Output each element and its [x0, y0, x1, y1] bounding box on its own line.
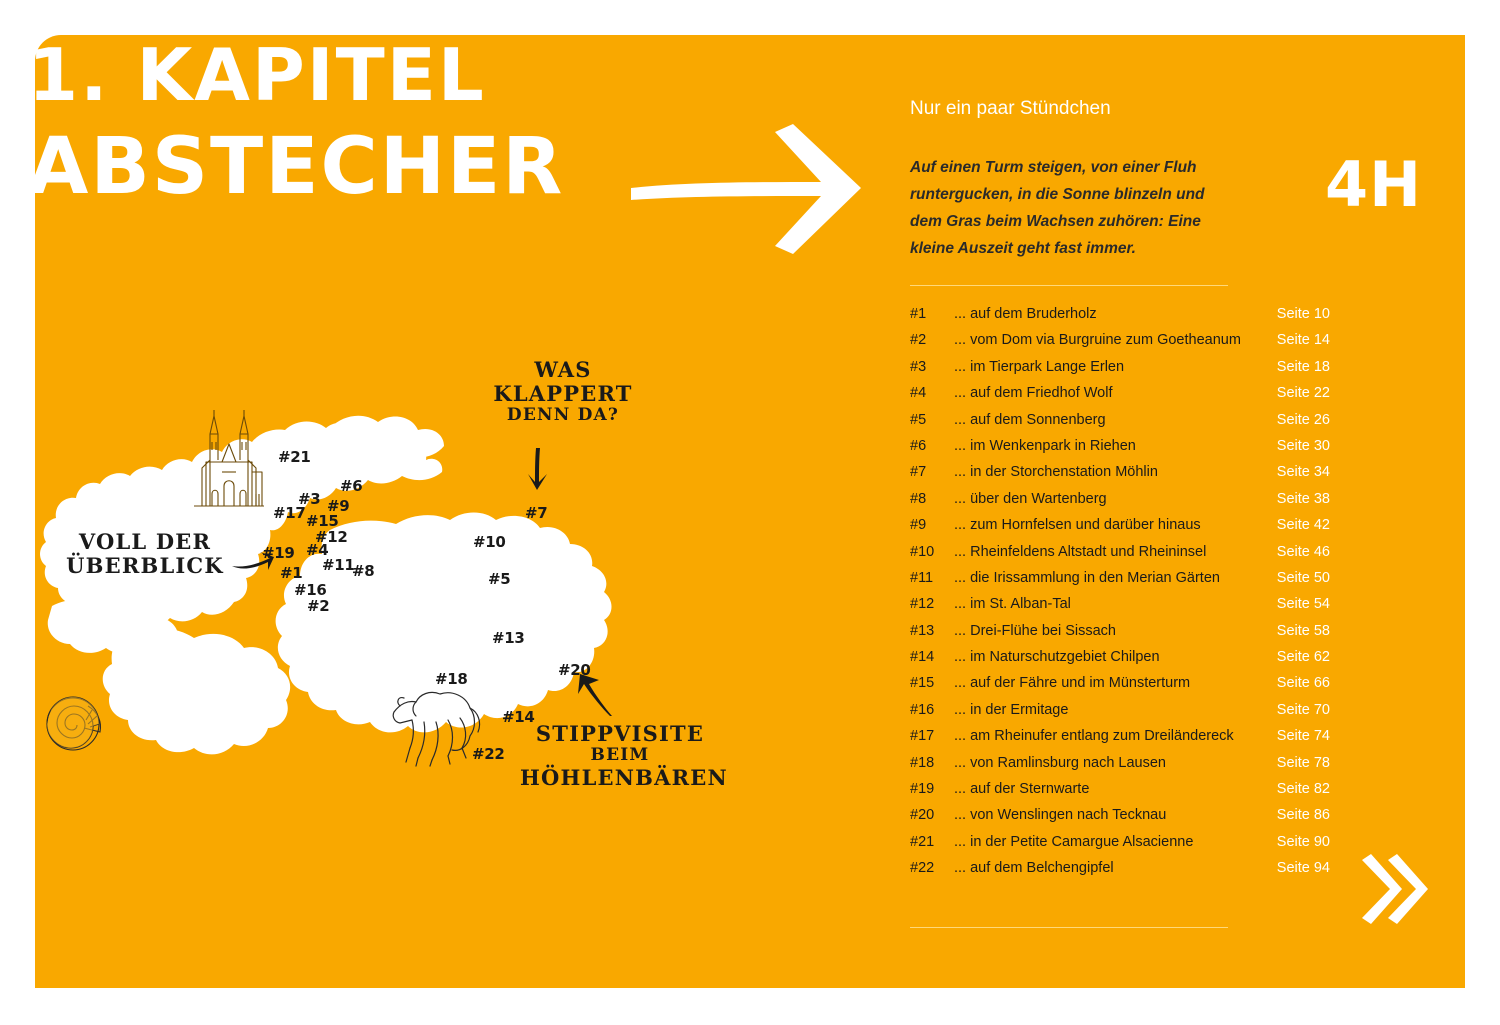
annotation-overview-line2: ÜBERBLICK	[60, 554, 230, 578]
annotation-stork-line2: KLAPPERT	[468, 382, 658, 406]
toc-title: ... über den Wartenberg	[954, 491, 1277, 507]
toc-page-number: Seite 46	[1277, 544, 1330, 560]
toc-title: ... Drei-Flühe bei Sissach	[954, 623, 1277, 639]
toc-title: ... auf der Sternwarte	[954, 781, 1277, 797]
arrow-right-icon	[625, 120, 865, 260]
toc-row[interactable]: #13... Drei-Flühe bei SissachSeite 58	[910, 623, 1330, 649]
toc-page-number: Seite 38	[1277, 491, 1330, 507]
toc-number: #9	[910, 517, 954, 533]
toc-row[interactable]: #10... Rheinfeldens Altstadt und Rheinin…	[910, 544, 1330, 570]
toc-number: #5	[910, 412, 954, 428]
annotation-stork-line3: DENN DA?	[468, 406, 658, 426]
page-title: 1. KAPITEL ABSTECHER	[28, 40, 588, 205]
toc-row[interactable]: #18... von Ramlinsburg nach LausenSeite …	[910, 755, 1330, 781]
map-marker[interactable]: #20	[558, 661, 591, 679]
toc-row[interactable]: #2... vom Dom via Burgruine zum Goethean…	[910, 332, 1330, 358]
toc-title: ... vom Dom via Burgruine zum Goetheanum	[954, 332, 1277, 348]
toc-row[interactable]: #3... im Tierpark Lange ErlenSeite 18	[910, 359, 1330, 385]
toc-number: #19	[910, 781, 954, 797]
map-marker[interactable]: #13	[492, 629, 525, 647]
toc-page-number: Seite 50	[1277, 570, 1330, 586]
divider-bottom	[910, 927, 1228, 928]
toc-page-number: Seite 86	[1277, 807, 1330, 823]
toc-row[interactable]: #8... über den WartenbergSeite 38	[910, 491, 1330, 517]
toc-page-number: Seite 10	[1277, 306, 1330, 322]
annotation-bear-line2: BEIM	[520, 746, 720, 766]
toc-number: #10	[910, 544, 954, 560]
toc-title: ... im Naturschutzgebiet Chilpen	[954, 649, 1277, 665]
toc-row[interactable]: #4... auf dem Friedhof WolfSeite 22	[910, 385, 1330, 411]
toc-title: ... von Ramlinsburg nach Lausen	[954, 755, 1277, 771]
toc-title: ... auf der Fähre und im Münsterturm	[954, 675, 1277, 691]
intro-kicker: Nur ein paar Stündchen	[910, 98, 1340, 120]
ammonite-fossil-illustration	[40, 688, 110, 758]
toc-title: ... auf dem Friedhof Wolf	[954, 385, 1277, 401]
toc-title: ... in der Petite Camargue Alsacienne	[954, 834, 1277, 850]
map-marker[interactable]: #1	[280, 564, 302, 582]
toc-page-number: Seite 90	[1277, 834, 1330, 850]
toc-row[interactable]: #22... auf dem BelchengipfelSeite 94	[910, 860, 1330, 886]
toc-number: #21	[910, 834, 954, 850]
toc-number: #1	[910, 306, 954, 322]
toc-row[interactable]: #9... zum Hornfelsen und darüber hinausS…	[910, 517, 1330, 543]
map-marker[interactable]: #6	[340, 477, 362, 495]
annotation-stork-line1: WAS	[468, 358, 658, 382]
toc-title: ... Rheinfeldens Altstadt und Rheininsel	[954, 544, 1277, 560]
toc-row[interactable]: #19... auf der SternwarteSeite 82	[910, 781, 1330, 807]
map-marker[interactable]: #19	[262, 544, 295, 562]
map-marker[interactable]: #14	[502, 708, 535, 726]
toc-number: #16	[910, 702, 954, 718]
map-marker[interactable]: #18	[435, 670, 468, 688]
toc-number: #12	[910, 596, 954, 612]
toc-page-number: Seite 58	[1277, 623, 1330, 639]
basel-muenster-illustration	[188, 410, 270, 508]
arrow-down-icon	[526, 448, 550, 492]
toc-page-number: Seite 78	[1277, 755, 1330, 771]
toc-title: ... auf dem Bruderholz	[954, 306, 1277, 322]
toc-row[interactable]: #21... in der Petite Camargue Alsacienne…	[910, 834, 1330, 860]
toc-page-number: Seite 70	[1277, 702, 1330, 718]
toc-number: #8	[910, 491, 954, 507]
toc-title: ... in der Ermitage	[954, 702, 1277, 718]
toc-page-number: Seite 42	[1277, 517, 1330, 533]
map-marker[interactable]: #8	[352, 562, 374, 580]
toc-number: #3	[910, 359, 954, 375]
toc-number: #20	[910, 807, 954, 823]
toc-title: ... im St. Alban-Tal	[954, 596, 1277, 612]
chapter-opener-page: 1. KAPITEL ABSTECHER 4H Nur ein paar Stü…	[0, 0, 1500, 1025]
toc-page-number: Seite 54	[1277, 596, 1330, 612]
toc-row[interactable]: #11... die Irissammlung in den Merian Gä…	[910, 570, 1330, 596]
toc-number: #7	[910, 464, 954, 480]
annotation-stork: WAS KLAPPERT DENN DA?	[468, 358, 658, 426]
toc-title: ... im Wenkenpark in Riehen	[954, 438, 1277, 454]
toc-number: #17	[910, 728, 954, 744]
map-marker[interactable]: #7	[525, 504, 547, 522]
toc-row[interactable]: #16... in der ErmitageSeite 70	[910, 702, 1330, 728]
toc-page-number: Seite 22	[1277, 385, 1330, 401]
toc-number: #22	[910, 860, 954, 876]
toc-title: ... zum Hornfelsen und darüber hinaus	[954, 517, 1277, 533]
toc-page-number: Seite 26	[1277, 412, 1330, 428]
toc-row[interactable]: #20... von Wenslingen nach TecknauSeite …	[910, 807, 1330, 833]
toc-number: #6	[910, 438, 954, 454]
annotation-bear: STIPPVISITE BEIM HÖHLENBÄREN	[520, 722, 720, 790]
toc-row[interactable]: #14... im Naturschutzgebiet ChilpenSeite…	[910, 649, 1330, 675]
toc-title: ... die Irissammlung in den Merian Gärte…	[954, 570, 1277, 586]
toc-row[interactable]: #6... im Wenkenpark in RiehenSeite 30	[910, 438, 1330, 464]
toc-title: ... im Tierpark Lange Erlen	[954, 359, 1277, 375]
toc-number: #15	[910, 675, 954, 691]
toc-row[interactable]: #12... im St. Alban-TalSeite 54	[910, 596, 1330, 622]
toc-row[interactable]: #1... auf dem BruderholzSeite 10	[910, 306, 1330, 332]
double-chevron-right-icon[interactable]	[1358, 852, 1428, 926]
toc-row[interactable]: #5... auf dem SonnenbergSeite 26	[910, 412, 1330, 438]
toc-page-number: Seite 62	[1277, 649, 1330, 665]
toc-number: #2	[910, 332, 954, 348]
toc-page-number: Seite 66	[1277, 675, 1330, 691]
table-of-contents: #1... auf dem BruderholzSeite 10#2... vo…	[910, 306, 1330, 887]
annotation-bear-line3: HÖHLENBÄREN	[520, 766, 720, 790]
annotation-overview: VOLL DER ÜBERBLICK	[60, 530, 230, 578]
map-marker[interactable]: #21	[278, 448, 311, 466]
toc-row[interactable]: #15... auf der Fähre und im MünsterturmS…	[910, 675, 1330, 701]
toc-page-number: Seite 18	[1277, 359, 1330, 375]
toc-number: #11	[910, 570, 954, 586]
toc-number: #18	[910, 755, 954, 771]
map-marker[interactable]: #5	[488, 570, 510, 588]
chapter-title-line1: 1. KAPITEL	[28, 40, 588, 111]
toc-number: #13	[910, 623, 954, 639]
map-marker[interactable]: #10	[473, 533, 506, 551]
intro-block: Nur ein paar Stündchen Auf einen Turm st…	[910, 60, 1340, 286]
region-map: VOLL DER ÜBERBLICK WAS KLAPPERT DENN DA?…	[30, 370, 690, 830]
intro-paragraph: Auf einen Turm steigen, von einer Fluh r…	[910, 154, 1210, 263]
toc-page-number: Seite 82	[1277, 781, 1330, 797]
map-marker[interactable]: #11	[322, 556, 355, 574]
chapter-title-line2: ABSTECHER	[28, 129, 588, 205]
map-marker[interactable]: #22	[472, 745, 505, 763]
toc-number: #4	[910, 385, 954, 401]
toc-title: ... auf dem Belchengipfel	[954, 860, 1277, 876]
annotation-bear-line1: STIPPVISITE	[520, 722, 720, 746]
toc-title: ... von Wenslingen nach Tecknau	[954, 807, 1277, 823]
toc-page-number: Seite 94	[1277, 860, 1330, 876]
toc-page-number: Seite 74	[1277, 728, 1330, 744]
toc-page-number: Seite 14	[1277, 332, 1330, 348]
toc-row[interactable]: #17... am Rheinufer entlang zum Dreiländ…	[910, 728, 1330, 754]
annotation-overview-line1: VOLL DER	[60, 530, 230, 554]
map-marker[interactable]: #17	[273, 504, 306, 522]
map-marker[interactable]: #2	[307, 597, 329, 615]
toc-title: ... auf dem Sonnenberg	[954, 412, 1277, 428]
toc-title: ... in der Storchenstation Möhlin	[954, 464, 1277, 480]
toc-number: #14	[910, 649, 954, 665]
toc-row[interactable]: #7... in der Storchenstation MöhlinSeite…	[910, 464, 1330, 490]
divider-top	[910, 285, 1228, 286]
toc-page-number: Seite 30	[1277, 438, 1330, 454]
toc-page-number: Seite 34	[1277, 464, 1330, 480]
toc-title: ... am Rheinufer entlang zum Dreiländere…	[954, 728, 1277, 744]
